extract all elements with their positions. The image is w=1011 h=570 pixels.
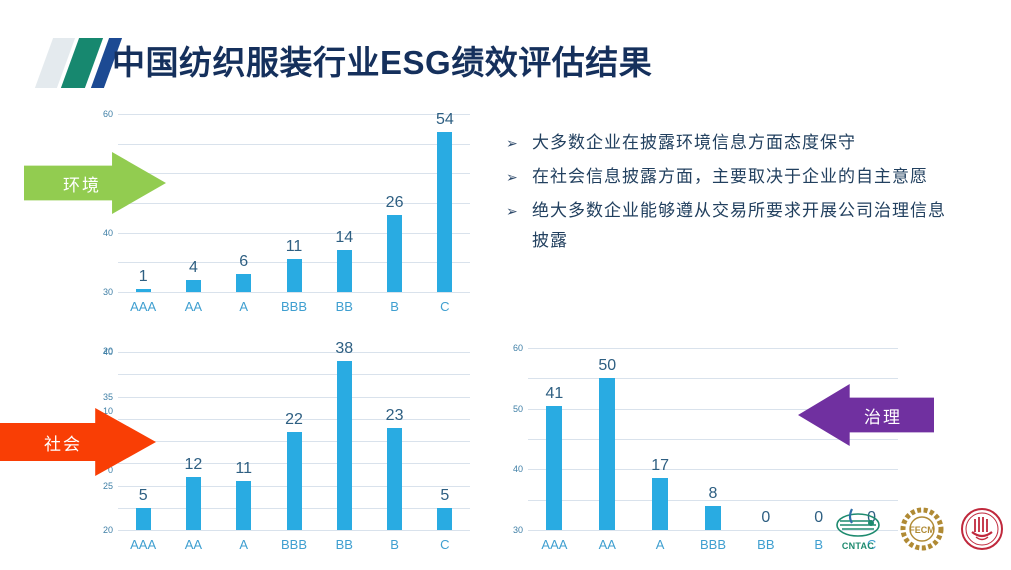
gridline: 0 bbox=[118, 292, 470, 293]
gridline: 35 bbox=[118, 374, 470, 375]
bar bbox=[387, 215, 402, 292]
bar bbox=[186, 477, 201, 530]
y-axis-tick-label: 20 bbox=[103, 525, 113, 535]
x-axis-tick-label: A bbox=[656, 537, 665, 552]
gridline: 20 bbox=[528, 469, 898, 470]
x-axis-tick-label: A bbox=[239, 299, 248, 314]
x-axis-tick-label: BBB bbox=[281, 299, 307, 314]
x-axis-tick-label: AAA bbox=[130, 537, 156, 552]
bar-value-label: 41 bbox=[546, 385, 564, 403]
bullet-text: 在社会信息披露方面，主要取决于企业的自主意愿 bbox=[532, 162, 928, 192]
gridline: 0 bbox=[118, 530, 470, 531]
fecm-logo-icon: FECM bbox=[900, 507, 944, 551]
bar bbox=[437, 508, 452, 530]
list-item: ➢ 大多数企业在披露环境信息方面态度保守 bbox=[506, 128, 946, 158]
slide-canvas: 中国纺织服装行业ESG绩效评估结果 0102030405060146111426… bbox=[0, 0, 1011, 570]
bar-value-label: 11 bbox=[235, 460, 252, 478]
bullet-list: ➢ 大多数企业在披露环境信息方面态度保守 ➢ 在社会信息披露方面，主要取决于企业… bbox=[506, 128, 946, 260]
x-axis-tick-label: BB bbox=[757, 537, 774, 552]
governance-arrow-label: 治理 bbox=[864, 403, 902, 428]
bar-value-label: 0 bbox=[761, 509, 770, 527]
gridline: 60 bbox=[118, 114, 470, 115]
bar bbox=[546, 406, 562, 530]
bar-value-label: 5 bbox=[440, 487, 449, 505]
x-axis-tick-label: BBB bbox=[700, 537, 726, 552]
svg-text:FECM: FECM bbox=[909, 525, 935, 535]
bar-value-label: 14 bbox=[335, 229, 353, 247]
society-chart: 0510152025303540512112238235AAAAAABBBBBB… bbox=[118, 352, 470, 552]
x-axis-tick-label: BB bbox=[336, 537, 353, 552]
y-axis-tick-label: 50 bbox=[513, 404, 523, 414]
bullet-text: 大多数企业在披露环境信息方面态度保守 bbox=[532, 128, 856, 158]
bullet-arrow-icon: ➢ bbox=[506, 162, 532, 192]
x-axis-tick-label: B bbox=[390, 299, 399, 314]
gridline: 60 bbox=[528, 348, 898, 349]
bar bbox=[387, 428, 402, 530]
title-accent-bars bbox=[44, 38, 122, 88]
environment-arrow-label: 环境 bbox=[63, 171, 101, 196]
x-axis-tick-label: A bbox=[239, 537, 248, 552]
bar bbox=[287, 259, 302, 292]
x-axis-tick-label: C bbox=[440, 299, 449, 314]
x-axis-tick-label: AA bbox=[185, 299, 202, 314]
y-axis-tick-label: 40 bbox=[103, 347, 113, 357]
y-axis-tick-label: 30 bbox=[103, 287, 113, 297]
gridline: 50 bbox=[118, 144, 470, 145]
bar-value-label: 12 bbox=[185, 456, 203, 474]
y-axis-tick-label: 30 bbox=[513, 525, 523, 535]
gridline: 50 bbox=[528, 378, 898, 379]
bullet-text: 绝大多数企业能够遵从交易所要求开展公司治理信息披露 bbox=[532, 196, 946, 256]
bar-value-label: 8 bbox=[709, 485, 718, 503]
bar-value-label: 11 bbox=[286, 238, 303, 256]
bar bbox=[705, 506, 721, 530]
y-axis-tick-label: 60 bbox=[103, 109, 113, 119]
logo-strip: CNTAC FECM bbox=[832, 505, 1007, 553]
bar bbox=[337, 361, 352, 530]
bar bbox=[136, 508, 151, 530]
bar bbox=[652, 478, 668, 530]
bar-value-label: 1 bbox=[139, 268, 148, 286]
bar-value-label: 6 bbox=[239, 253, 248, 271]
list-item: ➢ 绝大多数企业能够遵从交易所要求开展公司治理信息披露 bbox=[506, 196, 946, 256]
bar bbox=[287, 432, 302, 530]
y-axis-tick-label: 40 bbox=[103, 228, 113, 238]
bar bbox=[337, 250, 352, 292]
plot-area: 0510152025303540512112238235 bbox=[118, 352, 470, 530]
x-axis-tick-label: B bbox=[814, 537, 823, 552]
bar bbox=[437, 132, 452, 292]
bar-value-label: 23 bbox=[386, 407, 404, 425]
plot-area: 010203040506014611142654 bbox=[118, 114, 470, 292]
y-axis-tick-label: 25 bbox=[103, 481, 113, 491]
bar-value-label: 17 bbox=[651, 457, 669, 475]
x-axis-tick-label: AA bbox=[185, 537, 202, 552]
bullet-arrow-icon: ➢ bbox=[506, 196, 532, 226]
y-axis-tick-label: 60 bbox=[513, 343, 523, 353]
gridline: 30 bbox=[118, 203, 470, 204]
x-axis-tick-label: AAA bbox=[130, 299, 156, 314]
bar bbox=[236, 481, 251, 530]
red-emblem-logo-icon bbox=[960, 507, 1004, 551]
bar-value-label: 5 bbox=[139, 487, 148, 505]
gridline: 40 bbox=[118, 352, 470, 353]
environment-chart: 010203040506014611142654AAAAAABBBBBBC bbox=[118, 114, 470, 314]
page-title: 中国纺织服装行业ESG绩效评估结果 bbox=[112, 38, 652, 88]
society-arrow-label: 社会 bbox=[44, 430, 82, 455]
x-axis-tick-label: BBB bbox=[281, 537, 307, 552]
cntac-logo: CNTAC bbox=[832, 505, 884, 551]
bar-value-label: 50 bbox=[598, 357, 616, 375]
x-axis-tick-label: BB bbox=[336, 299, 353, 314]
cntac-logo-caption: CNTAC bbox=[832, 541, 884, 551]
bullet-arrow-icon: ➢ bbox=[506, 128, 532, 158]
bar-value-label: 26 bbox=[386, 194, 404, 212]
y-axis-tick-label: 35 bbox=[103, 392, 113, 402]
gridline: 20 bbox=[118, 233, 470, 234]
x-axis-tick-label: AA bbox=[599, 537, 616, 552]
y-axis-tick-label: 40 bbox=[513, 464, 523, 474]
list-item: ➢ 在社会信息披露方面，主要取决于企业的自主意愿 bbox=[506, 162, 946, 192]
red-emblem-logo bbox=[960, 507, 1004, 551]
x-axis-tick-label: AAA bbox=[541, 537, 567, 552]
bar-value-label: 38 bbox=[335, 340, 353, 358]
bar bbox=[136, 289, 151, 292]
bar bbox=[236, 274, 251, 292]
bar-value-label: 0 bbox=[814, 509, 823, 527]
bar-value-label: 54 bbox=[436, 111, 454, 129]
gridline: 30 bbox=[118, 397, 470, 398]
bar-value-label: 22 bbox=[285, 411, 303, 429]
x-axis-tick-label: C bbox=[440, 537, 449, 552]
bar bbox=[186, 280, 201, 292]
x-axis-tick-label: B bbox=[390, 537, 399, 552]
cntac-logo-icon bbox=[832, 505, 884, 541]
fecm-logo: FECM bbox=[900, 507, 944, 551]
gridline: 40 bbox=[118, 173, 470, 174]
bar bbox=[599, 378, 615, 530]
bar-value-label: 4 bbox=[189, 259, 198, 277]
